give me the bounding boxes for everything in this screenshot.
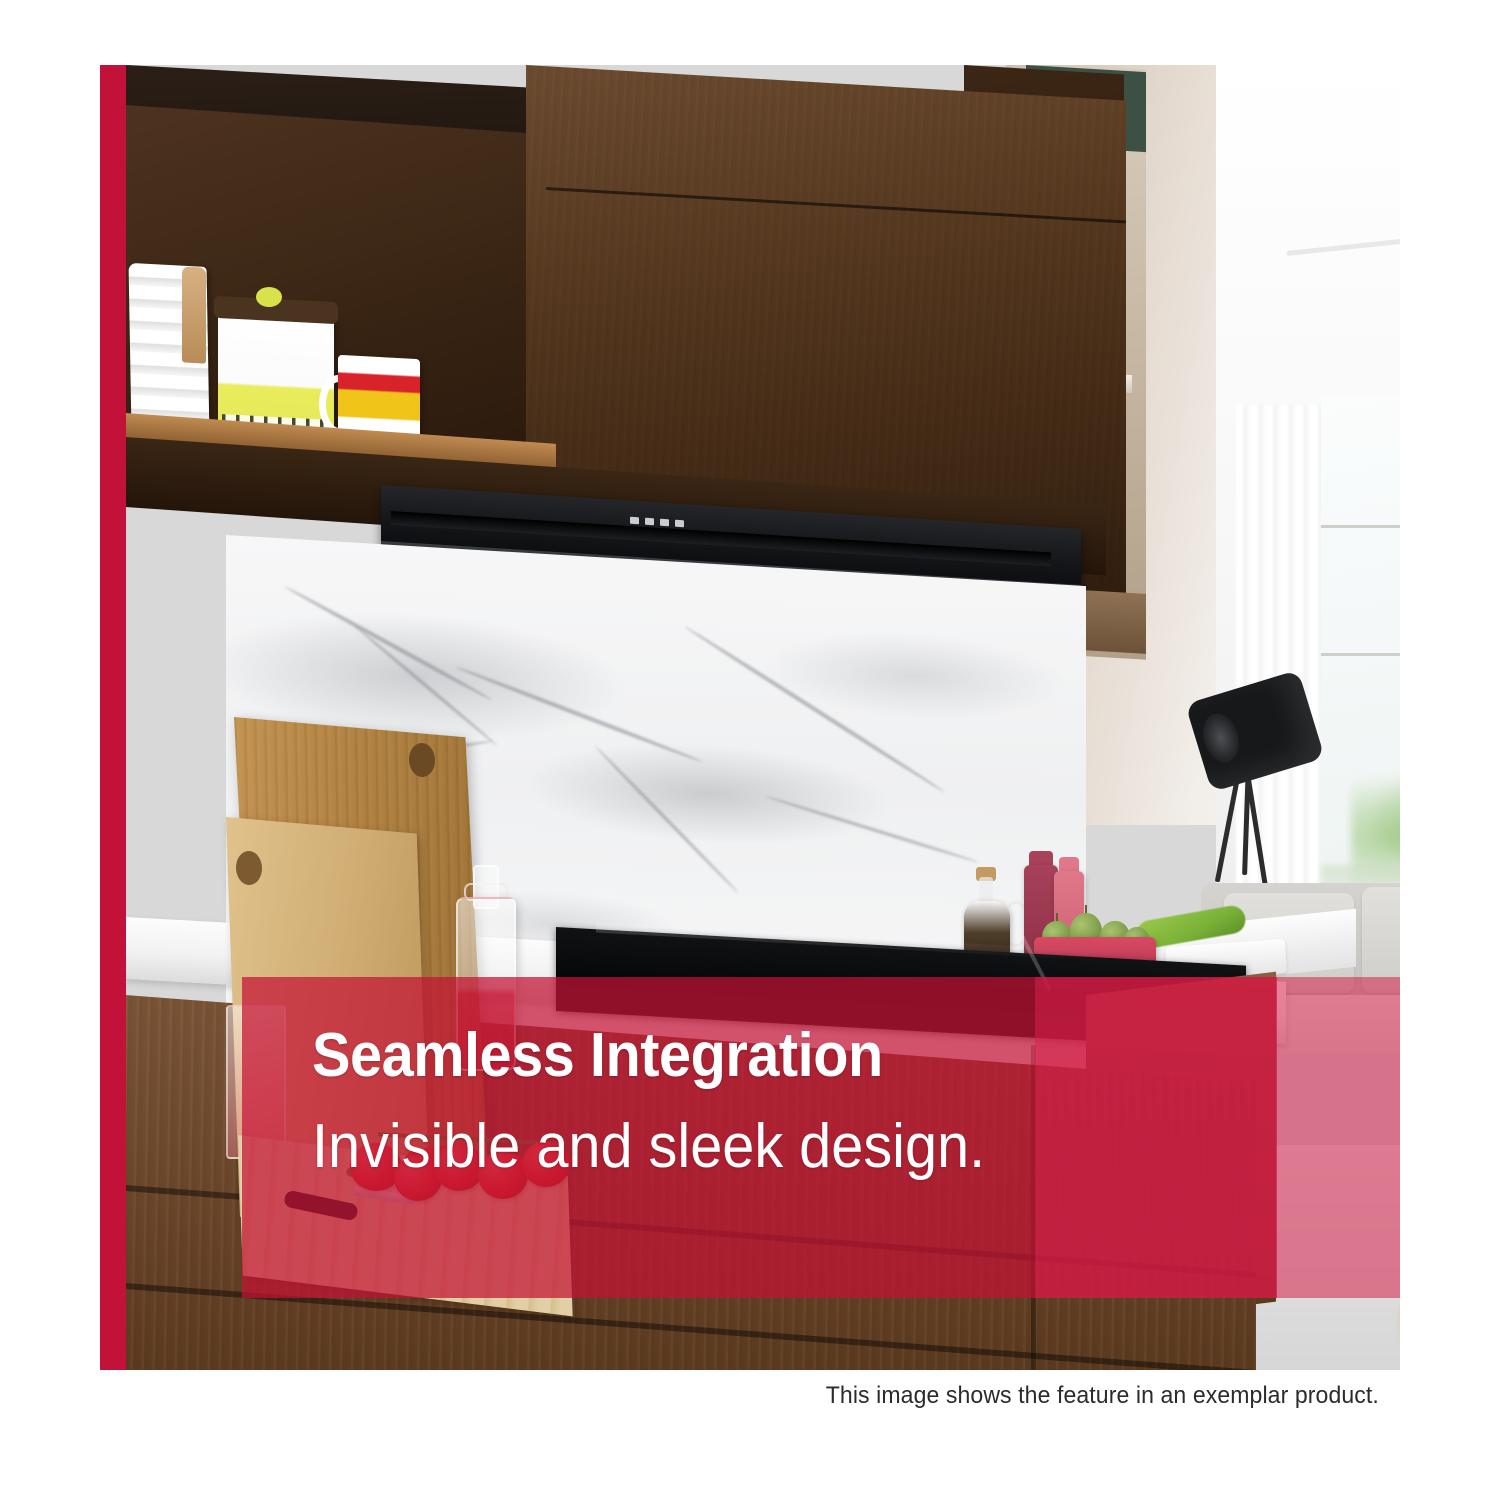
hood-control-button-icon <box>630 517 639 525</box>
window-mullion-horizontal-lower <box>1321 653 1400 656</box>
feature-title: Seamless Integration <box>312 1023 1209 1088</box>
product-feature-slide: Seamless Integration Invisible and sleek… <box>0 0 1500 1500</box>
overlay-text-block: Seamless Integration Invisible and sleek… <box>242 977 1277 1298</box>
wooden-pestle <box>182 266 206 363</box>
hood-control-button-icon <box>660 519 669 527</box>
window-mullion-horizontal-upper <box>1321 525 1400 528</box>
left-accent-bar <box>100 65 126 1370</box>
feature-subtitle: Invisible and sleek design. <box>312 1114 1209 1179</box>
hood-control-button-icon <box>675 520 684 528</box>
image-caption: This image shows the feature in an exemp… <box>56 1382 1400 1410</box>
jar-knob <box>256 287 282 307</box>
hood-control-button-icon <box>645 518 654 526</box>
